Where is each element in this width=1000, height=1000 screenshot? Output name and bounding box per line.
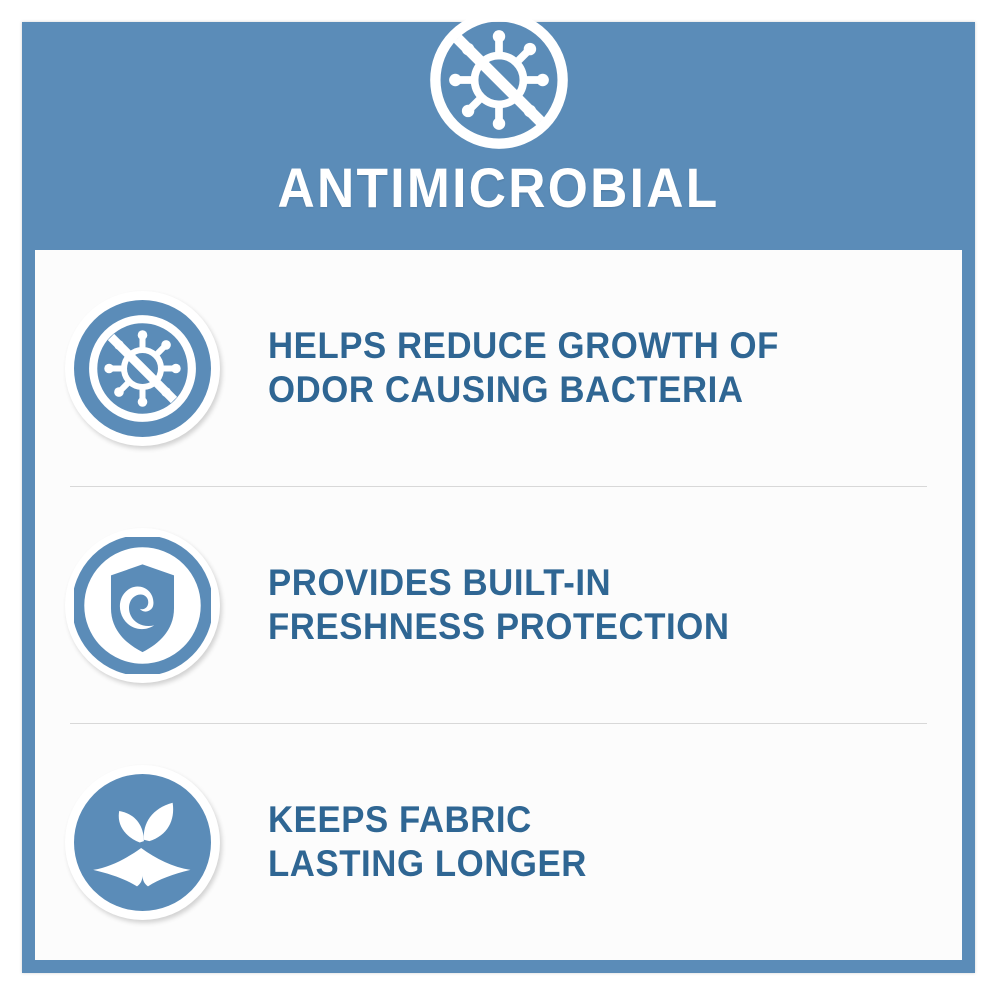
feature-icon-badge <box>65 528 220 683</box>
no-virus-icon <box>425 6 573 154</box>
infographic-card: ANTIMICROBIAL <box>22 22 975 973</box>
no-virus-icon <box>74 300 211 437</box>
header-banner: ANTIMICROBIAL <box>22 22 975 250</box>
feature-row: HELPS REDUCE GROWTH OF ODOR CAUSING BACT… <box>35 250 962 486</box>
shield-freshness-icon <box>74 537 211 674</box>
feature-icon-badge <box>65 291 220 446</box>
feature-label: KEEPS FABRIC LASTING LONGER <box>268 798 587 885</box>
feature-label: PROVIDES BUILT-IN FRESHNESS PROTECTION <box>268 561 730 648</box>
page-title: ANTIMICROBIAL <box>60 160 937 216</box>
feature-row: KEEPS FABRIC LASTING LONGER <box>35 724 962 960</box>
sprout-leaf-icon <box>74 774 211 911</box>
feature-label: HELPS REDUCE GROWTH OF ODOR CAUSING BACT… <box>268 324 779 411</box>
features-panel: HELPS REDUCE GROWTH OF ODOR CAUSING BACT… <box>35 250 962 960</box>
antimicrobial-infographic: ANTIMICROBIAL <box>0 0 1000 1000</box>
feature-icon-badge <box>65 765 220 920</box>
feature-row: PROVIDES BUILT-IN FRESHNESS PROTECTION <box>35 487 962 723</box>
